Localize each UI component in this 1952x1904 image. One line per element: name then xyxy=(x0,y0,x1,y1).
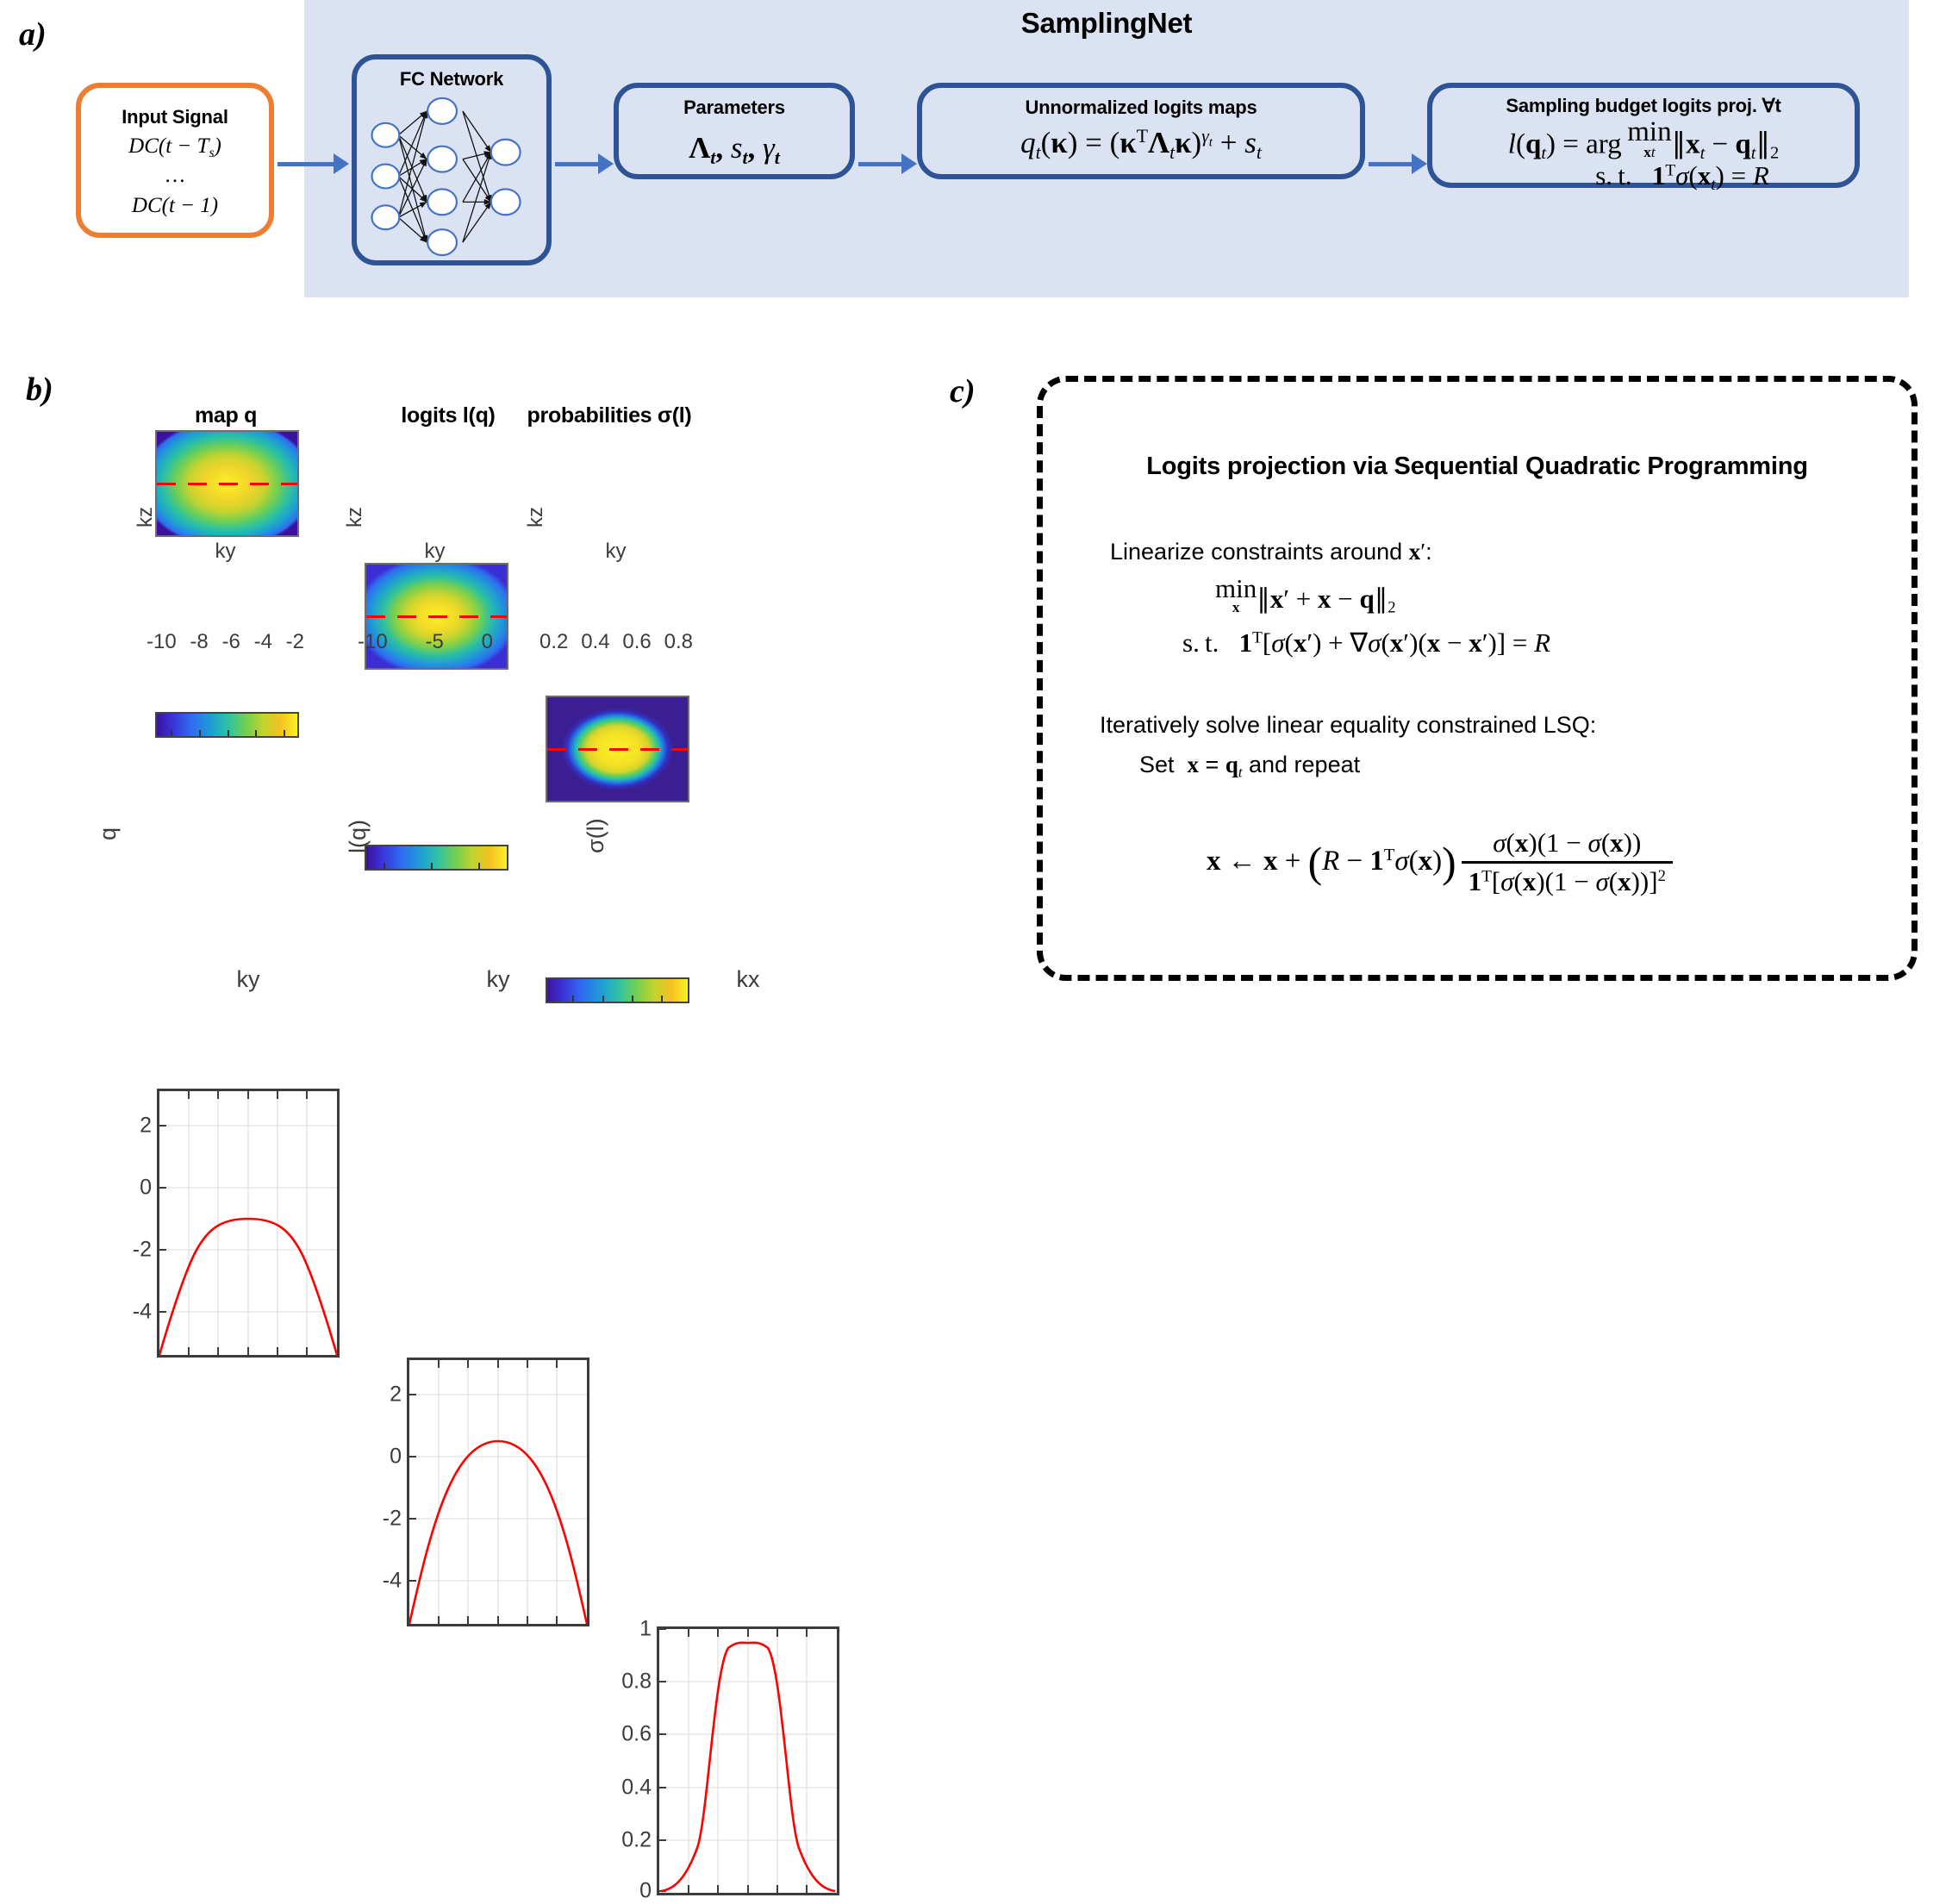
lineplot-q-ytick-1: 0 xyxy=(140,1176,152,1201)
sqp-update-numerator: σ(x)(1 − σ(x)) xyxy=(1462,827,1673,861)
sampling-budget-logits-box: Sampling budget logits proj. ∀t l(qt) = … xyxy=(1427,83,1860,188)
unnormalized-logits-maps-box: Unnormalized logits maps qt(κ) = (κTΛtκ)… xyxy=(917,83,1365,179)
parameters-formula: Λt, st, γt xyxy=(689,131,780,169)
cbar1-tick-4: -2 xyxy=(286,630,304,654)
sqp-update-fraction: σ(x)(1 − σ(x)) 1T[σ(x)(1 − σ(x))]2 xyxy=(1462,827,1673,897)
lineplot-sigma-ytick-4: 0.2 xyxy=(621,1828,652,1853)
heatmap-2-xlabel: ky xyxy=(365,540,505,564)
lineplot-sigma-ytick-3: 0.4 xyxy=(621,1776,652,1801)
lineplot-q: 2 0 -2 -4 xyxy=(157,1089,340,1358)
heatmap-2-ylabel: kz xyxy=(343,507,367,528)
heatmap-3-colorbar-labels: 0.2 0.4 0.6 0.8 xyxy=(539,630,693,654)
arrow-fc-to-parameters xyxy=(555,153,614,174)
unnormalized-logits-formula: qt(κ) = (κTΛtκ)γt + st xyxy=(1020,126,1262,164)
lineplot-lq-canvas xyxy=(409,1360,587,1624)
parameters-title: Parameters xyxy=(683,97,785,119)
lineplot-sigma-ytick-0: 1 xyxy=(639,1617,652,1642)
lineplot-q-canvas xyxy=(159,1091,337,1355)
input-signal-title: Input Signal xyxy=(122,106,228,128)
heatmap-1-colorbar-labels: -10 -8 -6 -4 -2 xyxy=(147,630,304,654)
heatmap-3 xyxy=(546,696,689,802)
lineplot-sigma-canvas xyxy=(659,1629,837,1893)
cbar3-tick-0: 0.2 xyxy=(539,630,568,654)
panel-a-letter: a) xyxy=(19,16,47,53)
lineplot-lq-ytick-0: 2 xyxy=(390,1383,402,1408)
lineplot-sigma-ytick-2: 0.6 xyxy=(621,1722,652,1747)
heatmap-3-xlabel: ky xyxy=(546,540,686,564)
arrow-parameters-to-logits xyxy=(858,153,917,174)
cbar2-tick-0: -10 xyxy=(358,630,388,654)
lineplot-lq-xlabel: ky xyxy=(407,966,589,993)
input-signal-box: Input Signal DC(t − Ts) … DC(t − 1) xyxy=(76,83,274,238)
cbar1-tick-1: -8 xyxy=(190,630,208,654)
cbar3-tick-2: 0.6 xyxy=(622,630,651,654)
sampling-budget-title: Sampling budget logits proj. ∀t xyxy=(1506,95,1780,117)
fc-network-box: FC Network xyxy=(352,54,552,265)
heatmap-2-colorbar-labels: -10 -5 0 xyxy=(358,630,515,654)
cbar2-tick-1: -5 xyxy=(425,630,443,654)
sqp-heading: Logits projection via Sequential Quadrat… xyxy=(1063,453,1892,481)
cbar3-tick-1: 0.4 xyxy=(581,630,609,654)
cbar3-tick-3: 0.8 xyxy=(664,630,693,654)
sqp-eq-st: s. t. 1T[σ(x′) + ∇σ(x′)(x − x′)] = R xyxy=(1182,627,1550,659)
cbar1-tick-0: -10 xyxy=(147,630,177,654)
lineplot-q-ylabel: q xyxy=(95,827,122,840)
sqp-update-lhs: x ← x + (R − 1Tσ(x)) xyxy=(1207,838,1456,887)
lineplot-sigma-ytick-1: 0.8 xyxy=(621,1670,652,1695)
lineplot-lq-ylabel: l(q) xyxy=(345,820,371,853)
lineplot-q-xlabel: ky xyxy=(157,966,340,993)
unnormalized-logits-title: Unnormalized logits maps xyxy=(1025,97,1257,119)
heatmap-3-dashed-line xyxy=(547,748,688,751)
lineplot-q-ytick-2: -2 xyxy=(133,1238,152,1263)
samplingnet-title: SamplingNet xyxy=(304,7,1909,40)
input-signal-line-3: DC(t − 1) xyxy=(132,194,218,218)
sampling-budget-formula-1: l(qt) = arg min xt ∥xt − qt∥2 xyxy=(1508,119,1779,162)
heatmap-3-title: probabilities σ(l) xyxy=(484,403,734,428)
heatmap-2-dashed-line xyxy=(366,615,507,618)
sqp-update-equation: x ← x + (R − 1Tσ(x)) σ(x)(1 − σ(x)) 1T[σ… xyxy=(1207,827,1673,897)
input-signal-line-1: DC(t − Ts) xyxy=(128,134,221,161)
lineplot-sigma-ytick-5: 0 xyxy=(639,1879,652,1904)
lineplot-sigma-ylabel: σ(l) xyxy=(583,818,609,853)
fc-network-graph xyxy=(361,92,542,260)
sqp-set-line: Set x = qₜ and repeat Set x = qt and rep… xyxy=(1139,752,1360,781)
cbar2-tick-2: 0 xyxy=(482,630,493,654)
lineplot-q-ytick-0: 2 xyxy=(140,1114,152,1139)
arrow-input-to-fc xyxy=(278,153,349,174)
sqp-iterate-line: Iteratively solve linear equality constr… xyxy=(1100,712,1596,739)
heatmap-1 xyxy=(155,430,299,537)
heatmap-3-ylabel: kz xyxy=(524,507,548,528)
lineplot-lq: 2 0 -2 -4 xyxy=(407,1358,589,1626)
heatmap-1-ylabel: kz xyxy=(134,507,158,528)
lineplot-q-ytick-3: -4 xyxy=(133,1300,152,1325)
heatmap-1-colorbar xyxy=(155,712,299,738)
lineplot-lq-ytick-3: -4 xyxy=(383,1569,402,1594)
heatmap-1-xlabel: ky xyxy=(155,540,296,564)
heatmap-1-title: map q xyxy=(140,403,312,428)
heatmap-1-dashed-line xyxy=(157,483,297,485)
panel-b-letter: b) xyxy=(26,371,53,409)
lineplot-sigma-xlabel: kx xyxy=(657,966,839,993)
parameters-box: Parameters Λt, st, γt xyxy=(614,83,855,179)
fc-network-title: FC Network xyxy=(400,68,503,91)
sqp-update-denominator: 1T[σ(x)(1 − σ(x))]2 xyxy=(1462,864,1673,897)
lineplot-sigma: 1 0.8 0.6 0.4 0.2 0 xyxy=(657,1626,839,1895)
cbar1-tick-2: -6 xyxy=(222,630,240,654)
lineplot-lq-ytick-1: 0 xyxy=(390,1445,402,1470)
lineplot-lq-ytick-2: -2 xyxy=(383,1507,402,1532)
input-signal-line-2: … xyxy=(165,168,186,184)
sqp-linearize-line: Linearize constraints around x′: Lineari… xyxy=(1110,539,1432,565)
sqp-eq-min: min x ∥x′ + x − q∥2 xyxy=(1215,576,1396,617)
sampling-budget-formula-2: s. t. 1Tσ(xt) = R xyxy=(1518,160,1769,195)
panel-c-letter: c) xyxy=(950,372,976,410)
cbar1-tick-3: -4 xyxy=(254,630,272,654)
arrow-logits-to-projection xyxy=(1369,153,1427,174)
heatmap-2-colorbar xyxy=(365,845,508,871)
